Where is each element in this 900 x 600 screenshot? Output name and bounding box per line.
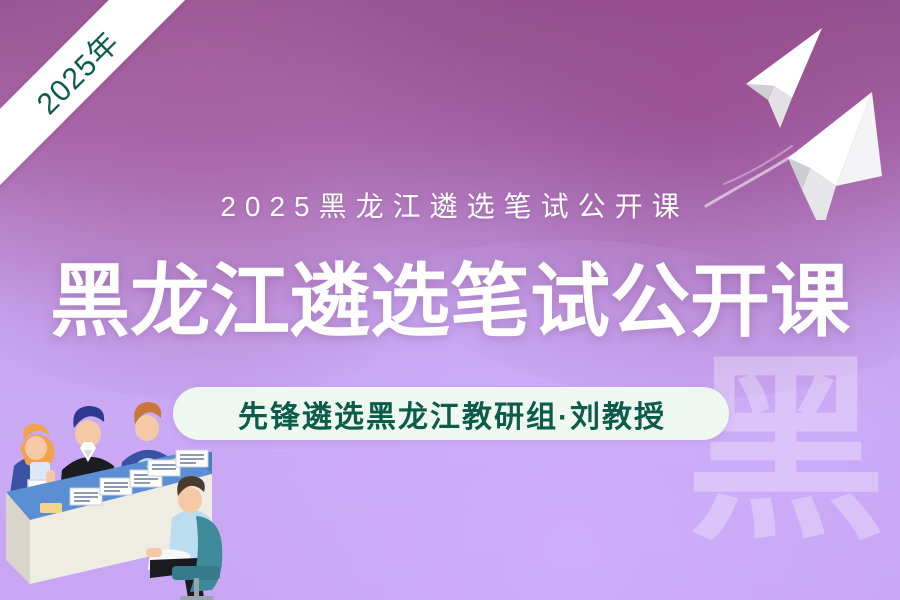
document-stack: [130, 470, 162, 487]
notebook: [40, 503, 62, 513]
ribbon-label: 2025年: [24, 19, 127, 122]
document-stack: [176, 450, 208, 467]
ribbon-band: 2025年: [0, 0, 201, 196]
chair: [172, 516, 222, 600]
document-stacks: [40, 450, 208, 513]
banner-headline: 黑龙江遴选笔试公开课: [0, 256, 900, 348]
person-interviewer-right: [118, 402, 174, 500]
paper-plane-small-icon: [746, 28, 822, 128]
watermark-character: 黑: [686, 352, 886, 552]
document-stack: [146, 458, 180, 476]
panel-desk: [6, 452, 212, 584]
document-stack: [70, 488, 106, 505]
document-stack: [100, 478, 132, 495]
banner-subtitle: 2025黑龙江遴选笔试公开课: [0, 185, 900, 225]
course-banner: 2025年 黑 2025黑龙江遴选笔试公开课 黑龙江遴选笔试公开课 先锋遴选黑龙…: [0, 0, 900, 600]
presenter-badge: 先锋遴选黑龙江教研组·刘教授: [173, 387, 729, 440]
person-interviewer-left: [8, 424, 55, 514]
person-candidate: [146, 476, 214, 598]
presenter-label: 先锋遴选黑龙江教研组·刘教授: [236, 392, 666, 436]
plane-trail-line-secondary: [724, 146, 792, 184]
person-interviewer-center: [58, 406, 152, 512]
